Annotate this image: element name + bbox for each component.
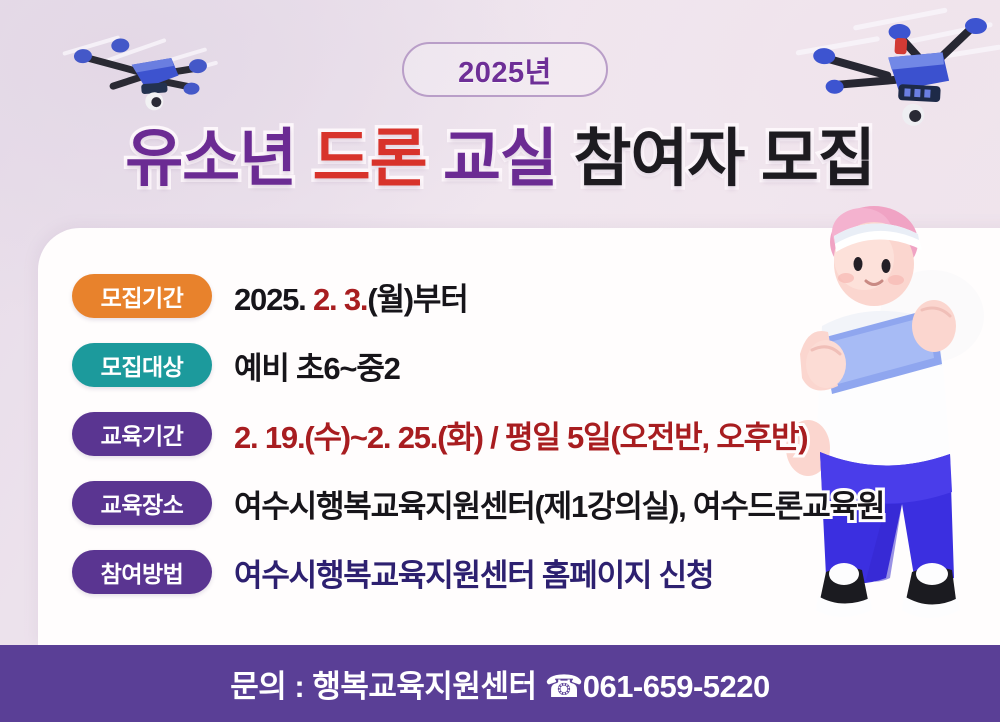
row-value-venue: 여수시행복교육지원센터(제1강의실), 여수드론교육원 xyxy=(234,481,884,526)
year-badge: 2025년 xyxy=(402,42,608,97)
row-label-how-to-apply: 참여방법 xyxy=(72,550,212,594)
info-row-recruit-period: 모집기간 2025. 2. 3.(월)부터 xyxy=(72,272,972,320)
row-label-target: 모집대상 xyxy=(72,343,212,387)
year-badge-label: 2025년 xyxy=(458,49,552,91)
info-rows: 모집기간 2025. 2. 3.(월)부터 모집대상 예비 초6~중2 교육기간… xyxy=(72,272,972,617)
info-row-how-to-apply: 참여방법 여수시행복교육지원센터 홈페이지 신청 xyxy=(72,548,972,596)
row-value-target: 예비 초6~중2 xyxy=(234,343,400,388)
recruit-period-accent: 2. 3. xyxy=(313,282,367,317)
row-label-venue: 교육장소 xyxy=(72,481,212,525)
row-label-training-period: 교육기간 xyxy=(72,412,212,456)
title-part-classroom: 교실 xyxy=(443,124,557,194)
row-value-recruit-period: 2025. 2. 3.(월)부터 xyxy=(234,274,468,319)
title-part-recruit: 참여자 모집 xyxy=(573,124,874,194)
info-row-target: 모집대상 예비 초6~중2 xyxy=(72,341,972,389)
contact-footer: 문의 : 행복교육지원센터 ☎061-659-5220 xyxy=(0,645,1000,722)
recruit-period-suffix: (월)부터 xyxy=(367,282,467,317)
title-part-youth: 유소년 xyxy=(125,124,296,194)
contact-footer-text: 문의 : 행복교육지원센터 ☎061-659-5220 xyxy=(230,661,770,706)
row-value-training-period: 2. 19.(수)~2. 25.(화) / 평일 5일(오전반, 오후반) xyxy=(234,412,807,457)
recruit-period-prefix: 2025. xyxy=(234,282,313,317)
row-label-recruit-period: 모집기간 xyxy=(72,274,212,318)
info-row-venue: 교육장소 여수시행복교육지원센터(제1강의실), 여수드론교육원 xyxy=(72,479,972,527)
row-value-how-to-apply: 여수시행복교육지원센터 홈페이지 신청 xyxy=(234,550,713,595)
poster-canvas: 2025년 유소년 드론 교실 참여자 모집 xyxy=(0,0,1000,722)
info-row-training-period: 교육기간 2. 19.(수)~2. 25.(화) / 평일 5일(오전반, 오후… xyxy=(72,410,972,458)
title-part-drone: 드론 xyxy=(313,124,427,194)
